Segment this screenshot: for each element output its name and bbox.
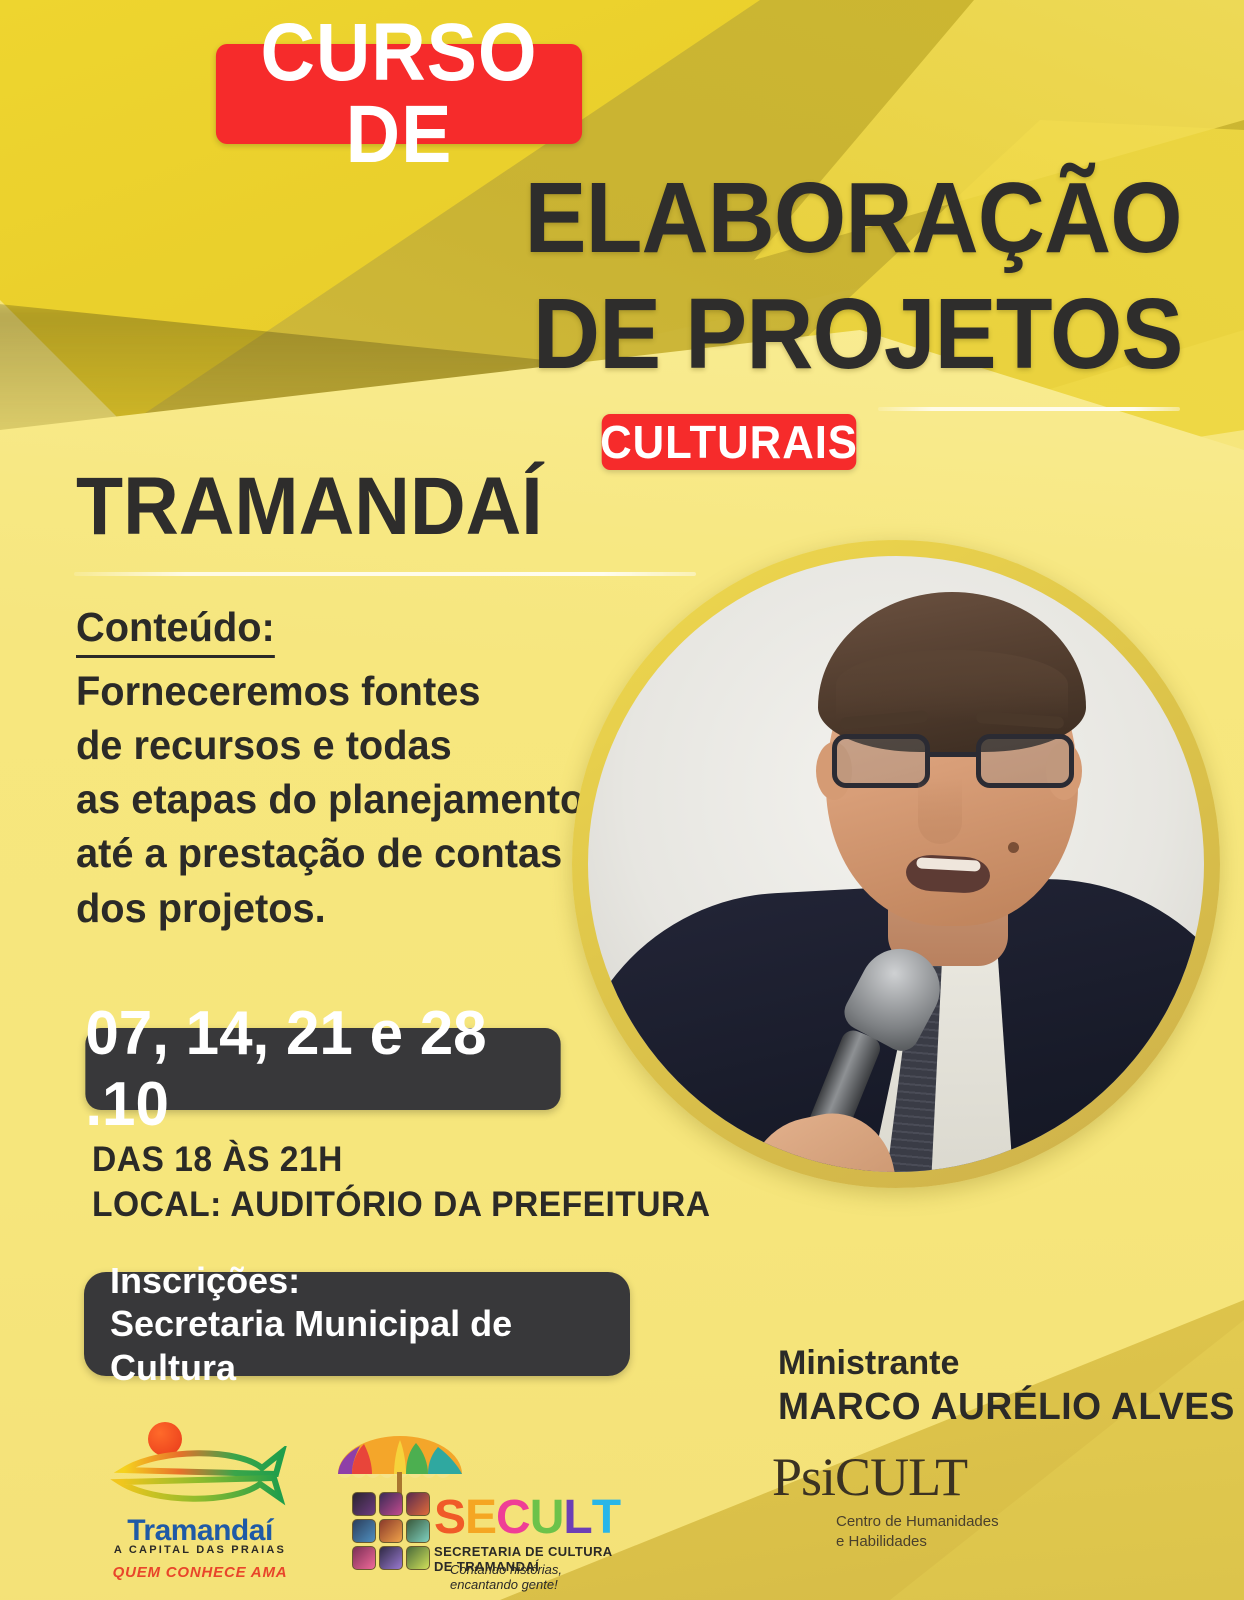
content-block: Conteúdo: Forneceremos fontes de recurso…: [76, 600, 584, 935]
culturais-badge: CULTURAIS: [602, 414, 857, 470]
psicult-subtitle: Centro de Humanidades e Habilidades: [836, 1512, 999, 1553]
city-title: TRAMANDAÍ: [76, 466, 543, 548]
content-line: dos projetos.: [76, 881, 584, 935]
poster-root: CURSO DE ELABORAÇÃO DE PROJETOS CULTURAI…: [0, 0, 1244, 1600]
registration-label: Inscrições:: [110, 1259, 300, 1302]
grid-tile: [406, 1546, 430, 1570]
speaker-illustration: [588, 556, 1204, 1172]
curso-de-badge: CURSO DE: [216, 44, 582, 144]
psicult-subtitle-line: Centro de Humanidades: [836, 1512, 999, 1532]
secult-letter: T: [592, 1494, 620, 1542]
secult-logo: SECULT SECRETARIA DE CULTURA DE TRAMANDA…: [330, 1434, 630, 1574]
dates-badge: 07, 14, 21 e 28 .10: [85, 1028, 560, 1110]
presenter-name: MARCO AURÉLIO ALVES: [778, 1386, 1235, 1429]
schedule-location: LOCAL: AUDITÓRIO DA PREFEITURA: [92, 1185, 711, 1225]
presenter-role-label: Ministrante: [778, 1344, 959, 1383]
grid-tile: [406, 1492, 430, 1516]
secult-icon-grid: [352, 1492, 430, 1570]
tramandai-slogan: QUEM CONHECE AMA: [110, 1564, 290, 1581]
grid-tile: [379, 1492, 403, 1516]
psicult-logo: PsiCULT Centro de Humanidades e Habilida…: [772, 1450, 1012, 1560]
tramandai-logo: Tramandaí A CAPITAL DAS PRAIAS QUEM CONH…: [110, 1418, 290, 1578]
content-label: Conteúdo:: [76, 600, 275, 658]
registration-place: Secretaria Municipal de Cultura: [110, 1302, 604, 1388]
nose-shape: [918, 778, 962, 844]
tramandai-wordmark: Tramandaí: [110, 1514, 290, 1548]
secult-letter: S: [434, 1494, 465, 1542]
fish-icon: [110, 1446, 290, 1510]
grid-tile: [352, 1519, 376, 1543]
content-line: até a prestação de contas: [76, 826, 584, 880]
content-line: as etapas do planejamento: [76, 772, 584, 826]
psicult-subtitle-line: e Habilidades: [836, 1532, 999, 1552]
registration-box: Inscrições: Secretaria Municipal de Cult…: [84, 1272, 630, 1376]
headline-divider-line: [878, 407, 1180, 411]
secult-letter: E: [465, 1494, 496, 1542]
psicult-wordmark: PsiCULT: [772, 1450, 1012, 1504]
headline-line-2: DE PROJETOS: [532, 288, 1182, 380]
grid-tile: [406, 1519, 430, 1543]
tramandai-subtitle: A CAPITAL DAS PRAIAS: [110, 1544, 290, 1556]
glasses-bridge: [930, 752, 976, 757]
grid-tile: [352, 1492, 376, 1516]
grid-tile: [352, 1546, 376, 1570]
secult-letter: C: [496, 1494, 530, 1542]
secult-tagline: Contando histórias, encantando gente!: [450, 1562, 630, 1592]
speaker-photo: [588, 556, 1204, 1172]
schedule-time: DAS 18 ÀS 21H: [92, 1140, 343, 1180]
lens-right: [976, 734, 1074, 788]
secult-letter: U: [530, 1494, 564, 1542]
content-line: Forneceremos fontes: [76, 664, 584, 718]
content-line: de recursos e todas: [76, 718, 584, 772]
grid-tile: [379, 1546, 403, 1570]
secult-wordmark: SECULT: [434, 1494, 620, 1542]
secult-letter: L: [563, 1494, 591, 1542]
grid-tile: [379, 1519, 403, 1543]
lens-left: [832, 734, 930, 788]
speaker-photo-frame: [572, 540, 1220, 1188]
mouth-shape: [905, 854, 991, 894]
mole-mark: [1008, 842, 1019, 853]
headline-line-1: ELABORAÇÃO: [525, 172, 1182, 264]
